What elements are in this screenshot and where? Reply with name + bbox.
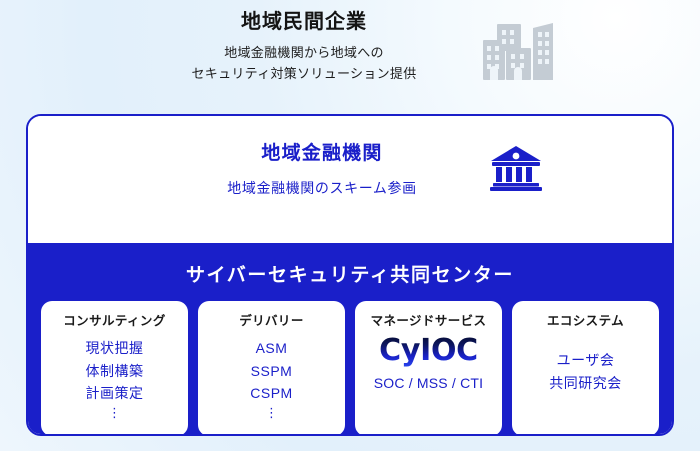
office-buildings-icon bbox=[483, 18, 557, 80]
card-delivery-items: ASM SSPM CSPM ⋮ bbox=[198, 337, 345, 421]
vertical-ellipsis-icon: ⋮ bbox=[41, 405, 188, 421]
service-cards-row: コンサルティング 現状把握 体制構築 計画策定 ⋮ デリバリー ASM SSPM… bbox=[28, 287, 672, 436]
list-item: SSPM bbox=[198, 360, 345, 383]
list-item: 共同研究会 bbox=[512, 372, 659, 395]
cyioc-logo-subtitle: SOC / MSS / CTI bbox=[355, 375, 502, 391]
card-ecosystem-title: エコシステム bbox=[512, 314, 659, 329]
diagram-canvas: 地域民間企業 地域金融機関から地域への セキュリティ対策ソリューション提供 bbox=[0, 0, 700, 451]
card-consulting[interactable]: コンサルティング 現状把握 体制構築 計画策定 ⋮ bbox=[41, 301, 188, 436]
vertical-ellipsis-icon: ⋮ bbox=[198, 405, 345, 421]
top-text-block: 地域民間企業 地域金融機関から地域への セキュリティ対策ソリューション提供 bbox=[0, 9, 700, 84]
card-delivery[interactable]: デリバリー ASM SSPM CSPM ⋮ bbox=[198, 301, 345, 436]
card-consulting-items: 現状把握 体制構築 計画策定 ⋮ bbox=[41, 337, 188, 421]
financial-institution-section: 地域金融機関 地域金融機関のスキーム参画 bbox=[28, 116, 672, 243]
list-item: 体制構築 bbox=[41, 360, 188, 383]
card-managed-service[interactable]: マネージドサービス CyIOC SOC / MSS / CTI bbox=[355, 301, 502, 436]
financial-text-block: 地域金融機関 地域金融機関のスキーム参画 bbox=[28, 116, 672, 198]
list-item: CSPM bbox=[198, 382, 345, 405]
list-item: 現状把握 bbox=[41, 337, 188, 360]
scheme-container: 地域金融機関 地域金融機関のスキーム参画 bbox=[26, 114, 674, 436]
bank-classical-building-icon bbox=[490, 144, 542, 191]
cyioc-logo: CyIOC bbox=[355, 334, 502, 368]
list-item: ユーザ会 bbox=[512, 349, 659, 372]
joint-center-section: サイバーセキュリティ共同センター コンサルティング 現状把握 体制構築 計画策定… bbox=[28, 243, 672, 434]
card-managed-service-items: CyIOC SOC / MSS / CTI bbox=[355, 334, 502, 391]
list-item: 計画策定 bbox=[41, 382, 188, 405]
card-delivery-title: デリバリー bbox=[198, 314, 345, 329]
top-section-private-enterprises: 地域民間企業 地域金融機関から地域への セキュリティ対策ソリューション提供 bbox=[0, 0, 700, 110]
joint-center-title: サイバーセキュリティ共同センター bbox=[28, 243, 672, 287]
card-ecosystem[interactable]: エコシステム ユーザ会 共同研究会 bbox=[512, 301, 659, 436]
card-ecosystem-items: ユーザ会 共同研究会 bbox=[512, 349, 659, 394]
card-consulting-title: コンサルティング bbox=[41, 314, 188, 329]
card-managed-service-title: マネージドサービス bbox=[355, 314, 502, 329]
list-item: ASM bbox=[198, 337, 345, 360]
